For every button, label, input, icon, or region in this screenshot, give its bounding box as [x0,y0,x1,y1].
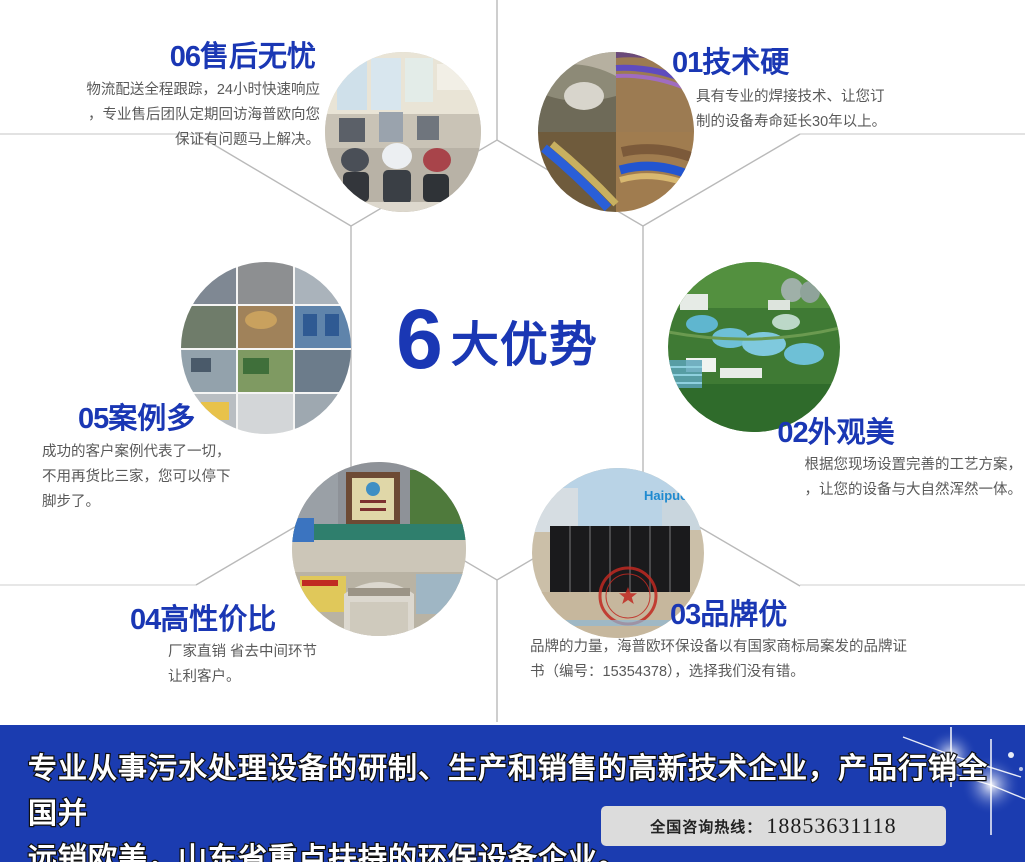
advantage-title-02: 外观美 [808,417,895,449]
advantage-block-01: 01技术硬 具有专业的焊接技术、让您订 制的设备寿命延长30年以上。 [672,48,1002,135]
advantage-number-05: 05 [78,403,108,435]
svg-text:Haipuou: Haipuou [644,488,696,503]
body-line: 脚步了。 [42,490,312,515]
advantage-number-02: 02 [777,417,807,449]
office-staff-photo [325,52,481,212]
advantage-heading-06: 06售后无忧 [8,42,320,74]
center-number: 6 [396,304,441,375]
advantage-number-03: 03 [670,599,700,631]
advantage-title-01: 技术硬 [702,47,789,79]
advantage-heading-01: 01技术硬 [672,48,1002,80]
welding-seam-photo [538,52,694,212]
advantage-body-06: 物流配送全程跟踪，24小时快速响应 ，专业售后团队定期回访海普欧向您 保证有问题… [8,78,320,153]
advantage-number-01: 01 [672,47,702,79]
body-line: 成功的客户案例代表了一切， [42,440,312,465]
advantage-body-02: 根据您现场设置完善的工艺方案， ，让您的设备与大自然浑然一体。 [700,453,1022,503]
advantage-block-02: 02外观美 根据您现场设置完善的工艺方案， ，让您的设备与大自然浑然一体。 [700,418,1022,503]
advantage-body-05: 成功的客户案例代表了一切， 不用再货比三家，您可以停下 脚步了。 [22,440,312,515]
body-line: 书（编号：15354378），选择我们没有错。 [530,660,1022,685]
body-line: 让利客户。 [168,665,430,690]
advantage-heading-02: 02外观美 [700,418,1022,450]
aerial-treatment-plant-photo [668,262,840,432]
advantage-body-01: 具有专业的焊接技术、让您订 制的设备寿命延长30年以上。 [672,85,1002,135]
hotline-box[interactable]: 全国咨询热线： 18853631118 [601,806,946,846]
hotline-label: 全国咨询热线： [650,816,762,837]
advantage-heading-05: 05案例多 [22,404,312,436]
center-label: 6 大优势 [352,290,642,390]
advantage-block-03: 03品牌优 品牌的力量，海普欧环保设备以有国家商标局案发的品牌证 书（编号：15… [530,600,1022,685]
advantage-heading-04: 04高性价比 [130,605,430,637]
body-line: 厂家直销 省去中间环节 [168,640,430,665]
infographic-page: 6 大优势 [0,0,1025,862]
body-line: 制的设备寿命延长30年以上。 [696,110,1002,135]
body-line: 保证有问题马上解决。 [8,128,320,153]
advantage-title-03: 品牌优 [700,599,787,631]
body-line: 物流配送全程跟踪，24小时快速响应 [8,78,320,103]
advantage-body-03: 品牌的力量，海普欧环保设备以有国家商标局案发的品牌证 书（编号：15354378… [530,635,1022,685]
body-line: 根据您现场设置完善的工艺方案， [700,453,1022,478]
advantage-title-04: 高性价比 [160,604,276,636]
advantage-title-05: 案例多 [108,403,195,435]
advantage-title-06: 售后无忧 [200,41,316,73]
body-line: 不用再货比三家，您可以停下 [42,465,312,490]
advantage-body-04: 厂家直销 省去中间环节 让利客户。 [130,640,430,690]
advantage-block-06: 06售后无忧 物流配送全程跟踪，24小时快速响应 ，专业售后团队定期回访海普欧向… [8,42,320,153]
hotline-number: 18853631118 [766,813,896,839]
advantage-number-04: 04 [130,604,160,636]
body-line: 具有专业的焊接技术、让您订 [696,85,1002,110]
body-line: ，让您的设备与大自然浑然一体。 [700,478,1022,503]
advantage-heading-03: 03品牌优 [530,600,1022,632]
body-line: 品牌的力量，海普欧环保设备以有国家商标局案发的品牌证 [530,635,1022,660]
advantage-block-04: 04高性价比 厂家直销 省去中间环节 让利客户。 [130,605,430,690]
body-line: ，专业售后团队定期回访海普欧向您 [8,103,320,128]
advantage-number-06: 06 [170,41,200,73]
advantage-block-05: 05案例多 成功的客户案例代表了一切， 不用再货比三家，您可以停下 脚步了。 [22,404,312,515]
center-word: 大优势 [451,305,598,375]
